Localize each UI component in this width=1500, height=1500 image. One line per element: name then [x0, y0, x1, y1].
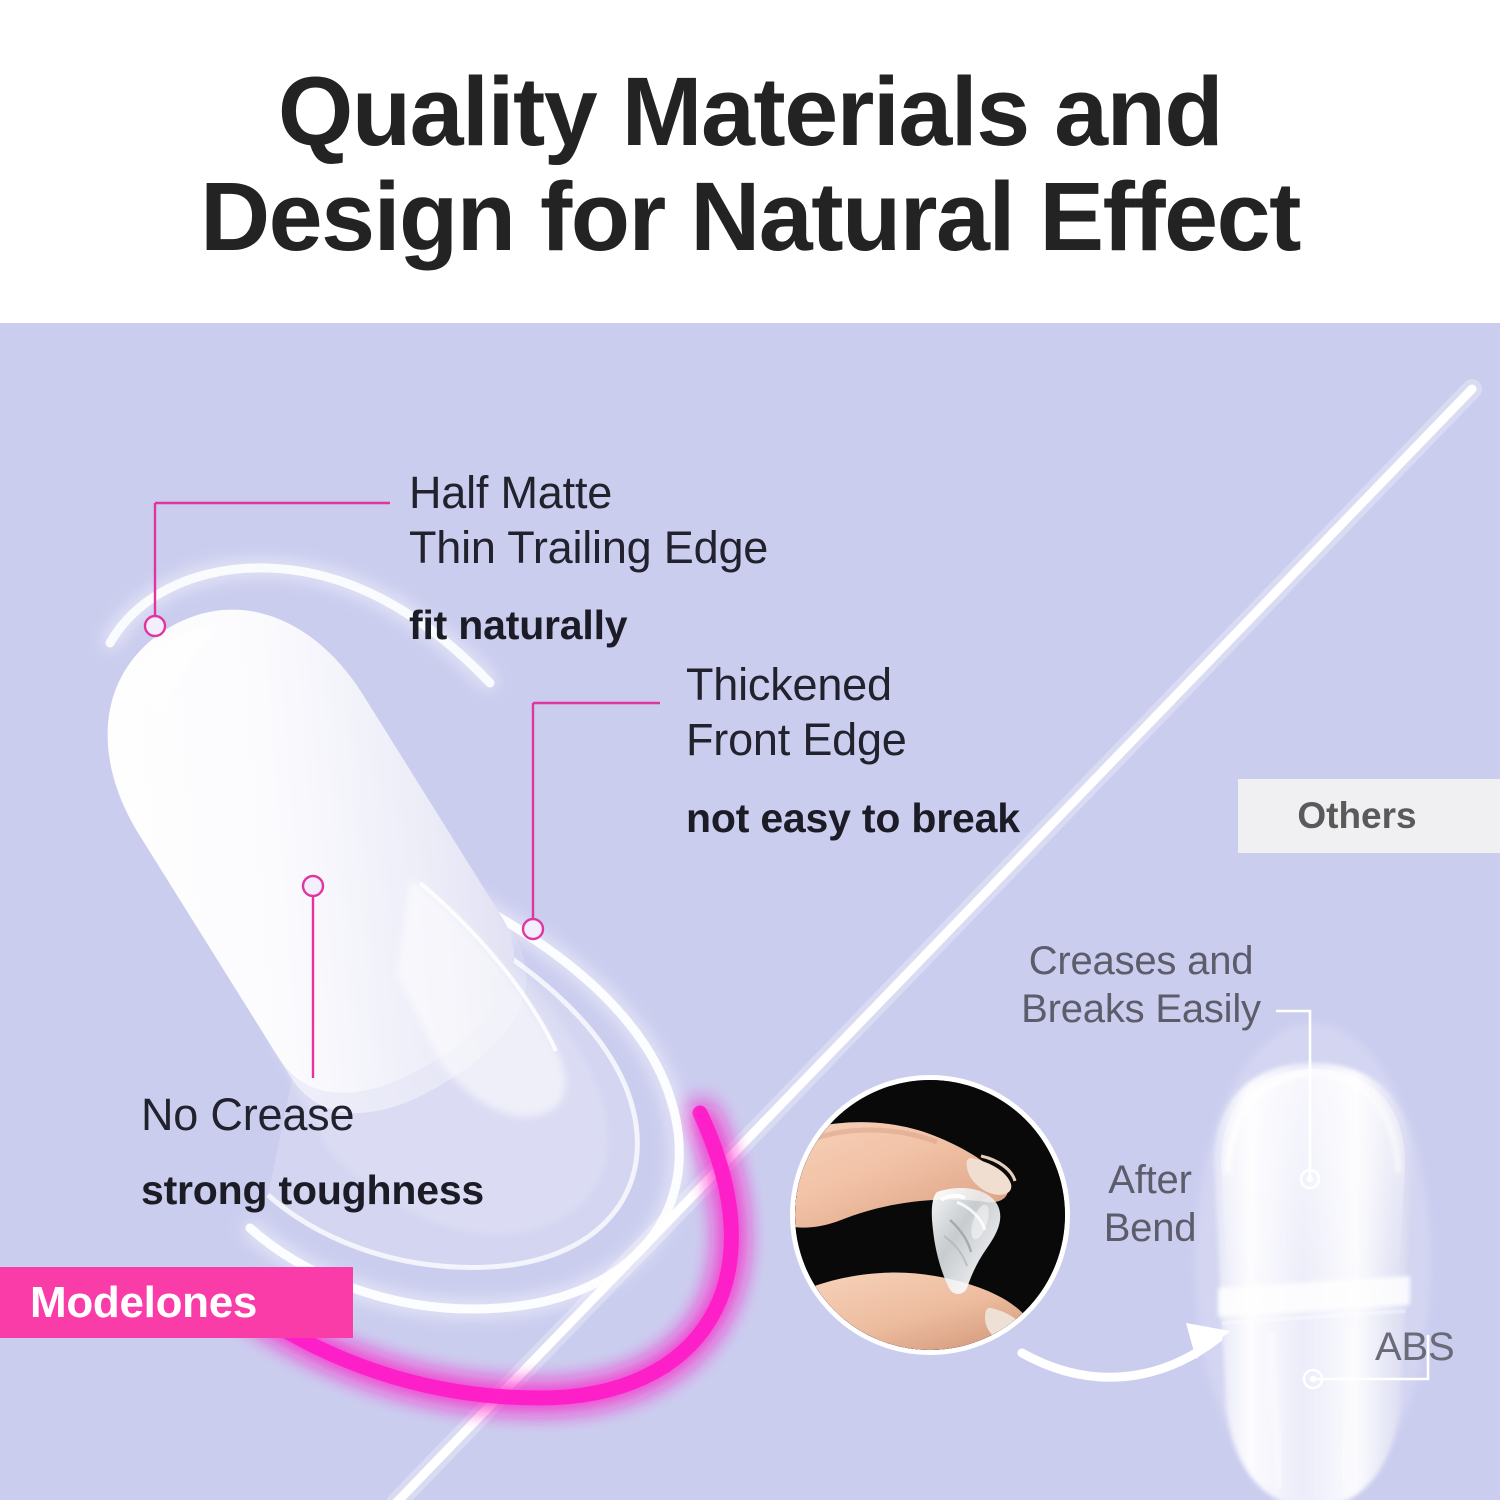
leader-dot-front	[523, 919, 543, 939]
callout-thin-trailing-edge: Half Matte Thin Trailing Edge fit natura…	[409, 466, 768, 650]
others-badge-label: Others	[1297, 795, 1440, 837]
others-badge: Others	[1238, 779, 1500, 853]
callout-abs-material: ABS	[1375, 1323, 1475, 1371]
comparison-panel: Half Matte Thin Trailing Edge fit natura…	[0, 323, 1500, 1500]
callout-subtitle: strong toughness	[141, 1166, 484, 1215]
leader-dot-trailing	[145, 616, 165, 636]
leader-dot-nocrease	[303, 876, 323, 896]
callout-subtitle: not easy to break	[686, 794, 1020, 843]
callout-after-bend: After Bend	[1090, 1156, 1210, 1252]
callout-no-crease: No Crease strong toughness	[141, 1088, 484, 1215]
modelones-badge-label: Modelones	[0, 1278, 257, 1328]
callout-title: Half Matte Thin Trailing Edge	[409, 466, 768, 576]
callout-thickened-front-edge: Thickened Front Edge not easy to break	[686, 658, 1020, 843]
infographic-root: Quality Materials and Design for Natural…	[0, 0, 1500, 1500]
modelones-badge: Modelones	[0, 1267, 353, 1338]
callout-title: Thickened Front Edge	[686, 658, 1020, 768]
abs-nail-artwork	[1195, 1023, 1431, 1500]
callout-title: No Crease	[141, 1088, 484, 1143]
callout-subtitle: fit naturally	[409, 601, 768, 650]
page-title: Quality Materials and Design for Natural…	[0, 60, 1500, 270]
bend-demo-photo-artwork	[795, 1080, 1065, 1350]
bend-demo-photo	[790, 1075, 1070, 1355]
callout-creases-and-breaks: Creases and Breaks Easily	[1006, 937, 1276, 1033]
header-band: Quality Materials and Design for Natural…	[0, 0, 1500, 323]
